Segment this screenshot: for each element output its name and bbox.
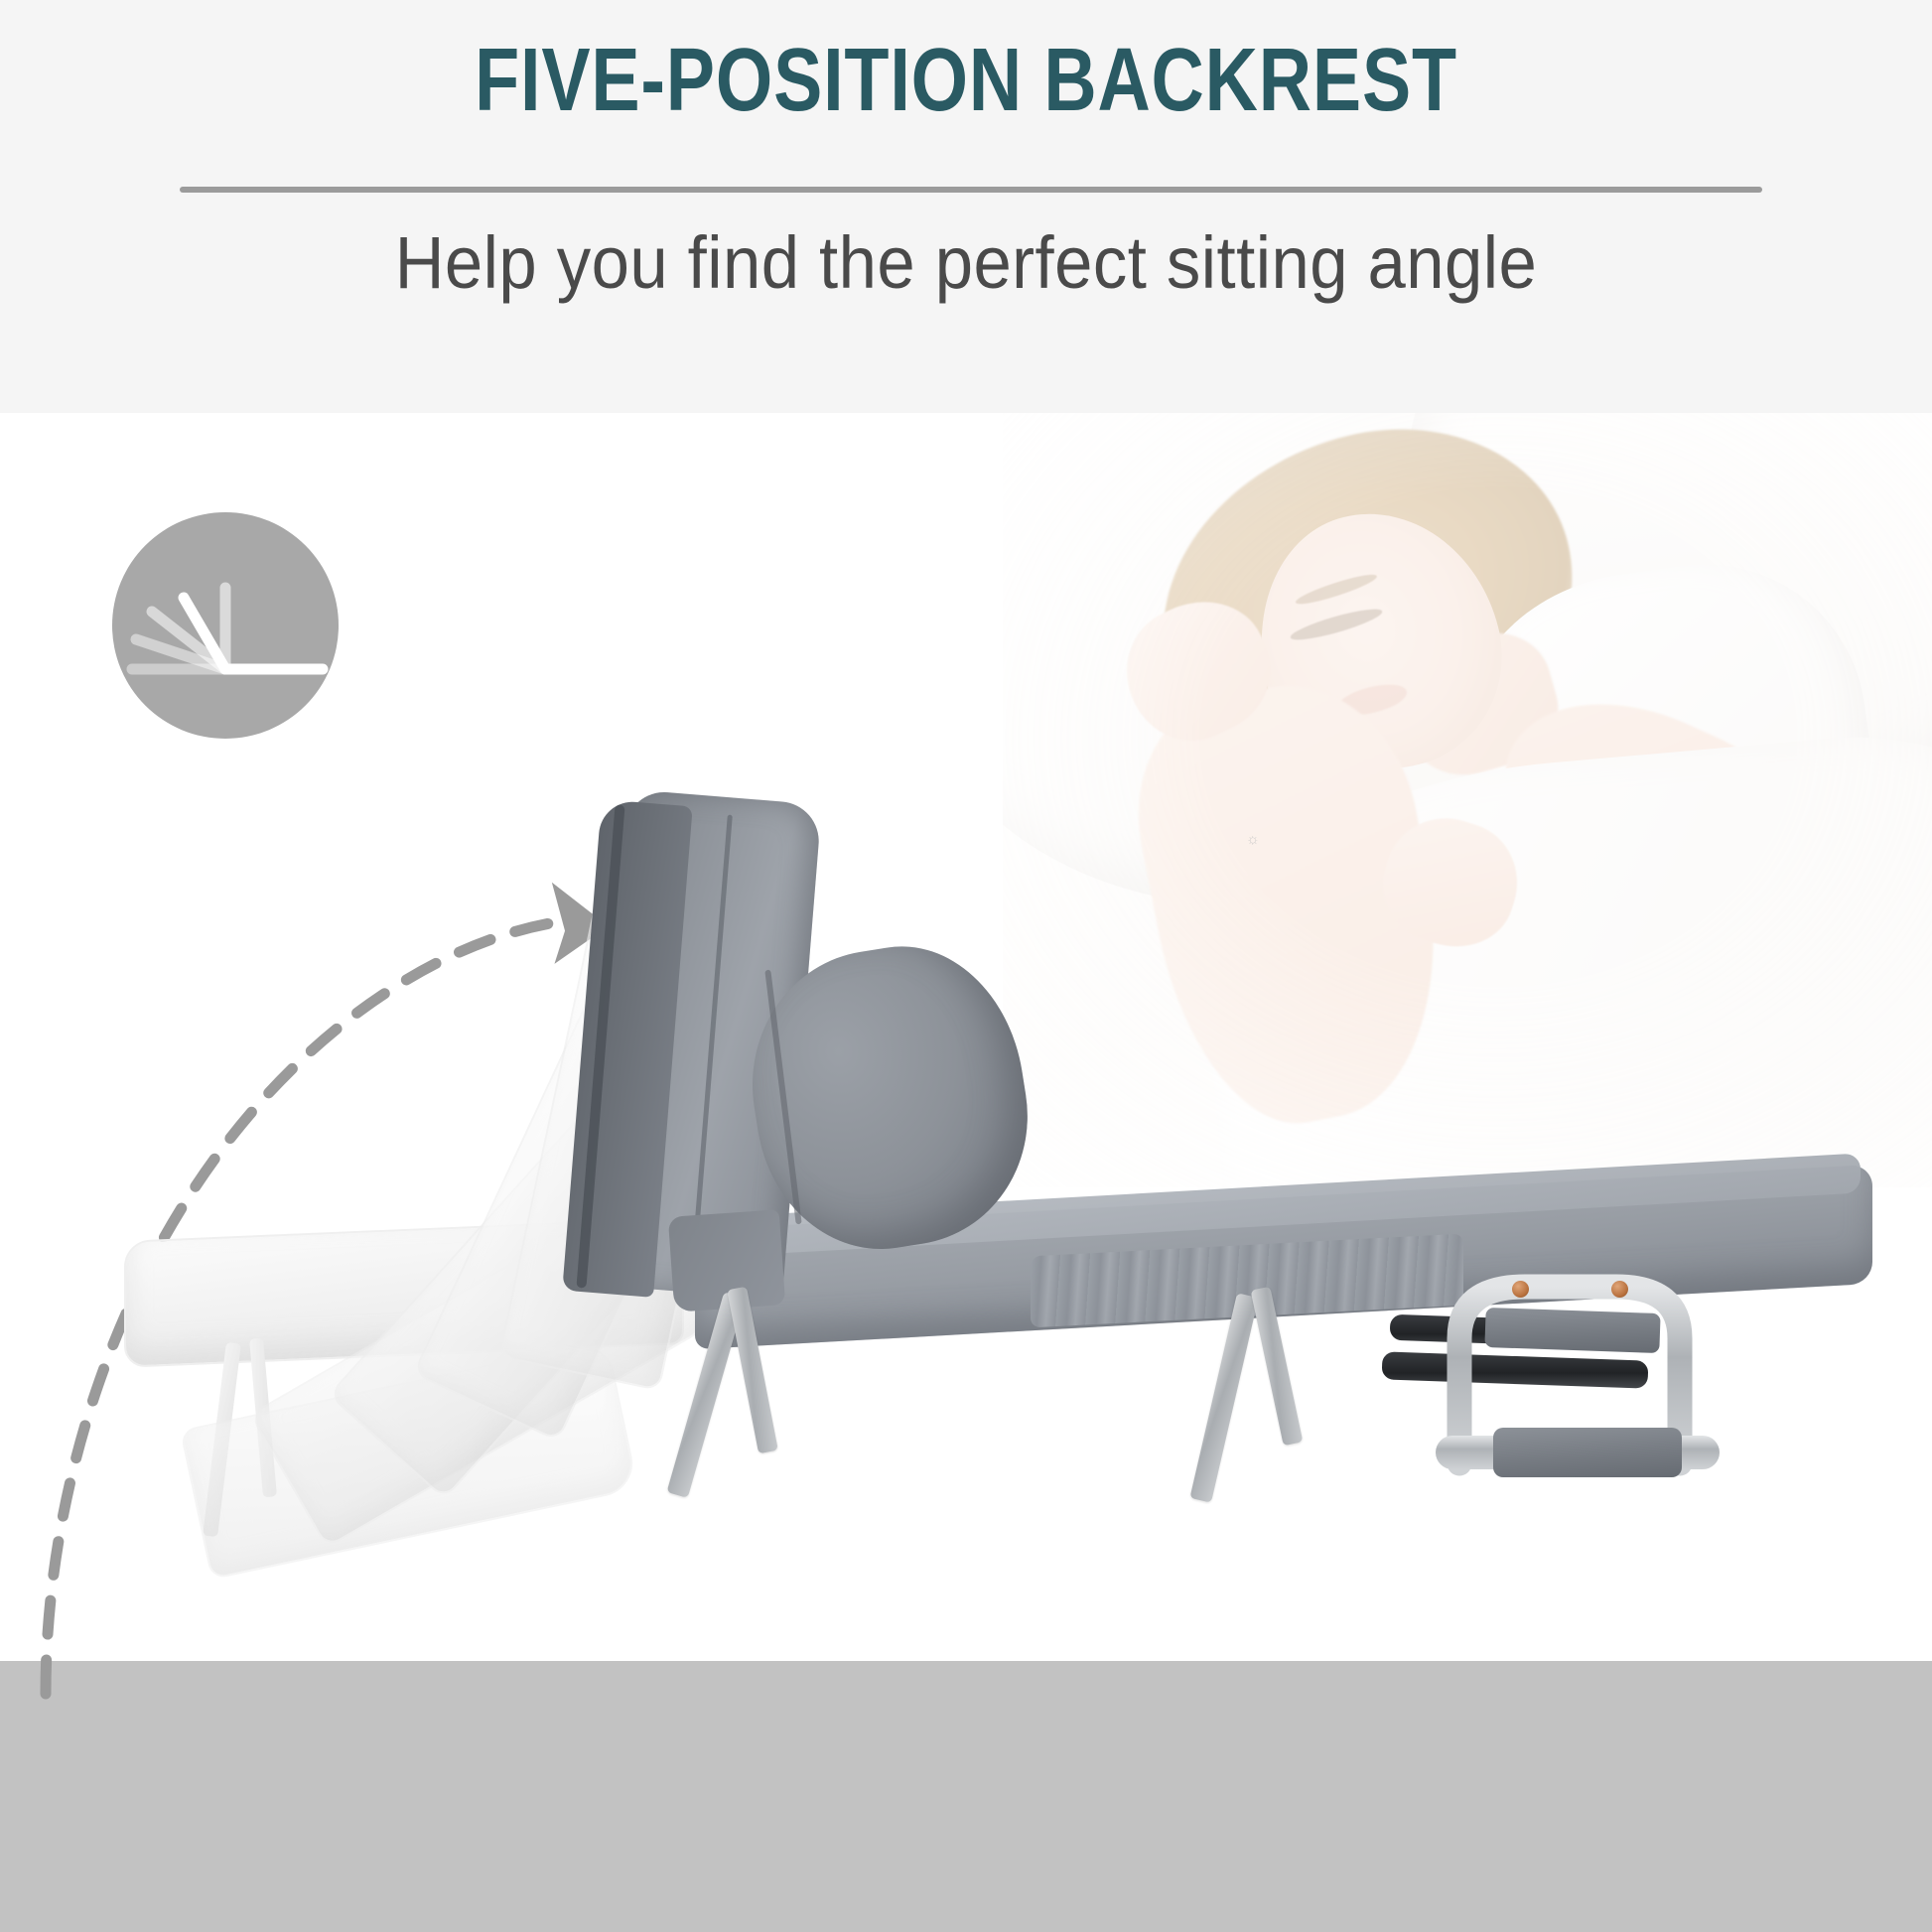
title-divider (180, 187, 1762, 193)
chrome-leg-front-right (1189, 1293, 1258, 1503)
handle-rivet-left (1512, 1281, 1529, 1298)
page-title: FIVE-POSITION BACKREST (174, 36, 1758, 125)
product-feature-banner: FIVE-POSITION BACKREST Help you find the… (0, 0, 1932, 1932)
u-frame-handle (1430, 1267, 1737, 1485)
page-subtitle: Help you find the perfect sitting angle (68, 220, 1864, 305)
chaise-lounger (0, 413, 1932, 1932)
header-band: FIVE-POSITION BACKREST Help you find the… (0, 0, 1932, 413)
product-stage: ☼ (0, 413, 1932, 1932)
handle-rivet-right (1611, 1281, 1628, 1298)
handle-fabric-grip (1493, 1428, 1682, 1477)
